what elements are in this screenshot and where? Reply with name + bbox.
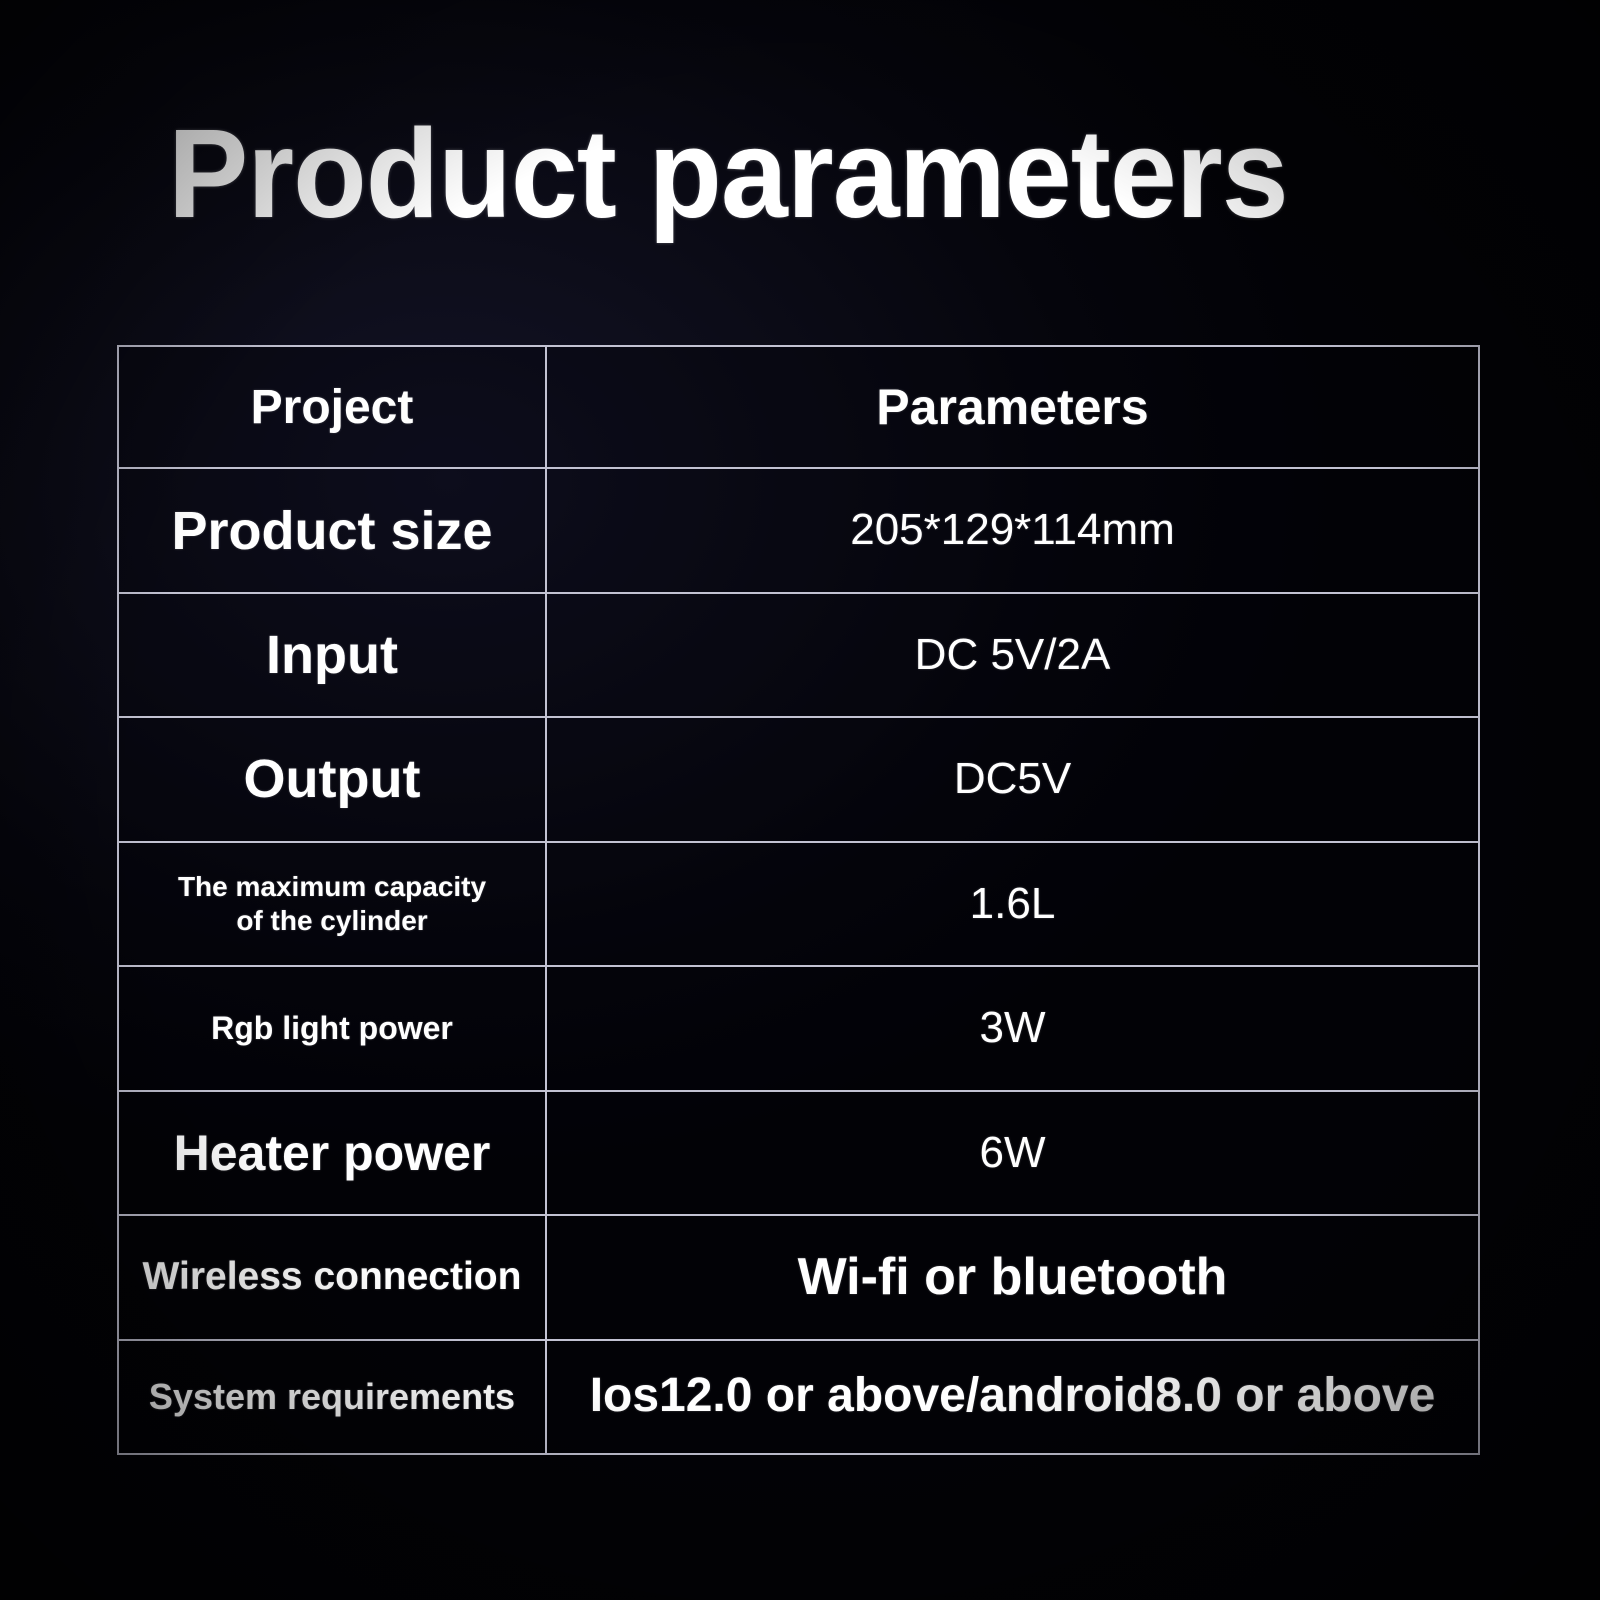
row-value-max-capacity: 1.6L <box>546 842 1479 966</box>
table-row: The maximum capacity of the cylinder 1.6… <box>118 842 1479 966</box>
row-value-rgb-light-power: 3W <box>546 966 1479 1090</box>
header-label-parameters: Parameters <box>547 378 1478 436</box>
label-text: The maximum capacity of the cylinder <box>153 870 511 938</box>
value-text: 205*129*114mm <box>547 506 1478 554</box>
header-cell-project: Project <box>118 346 546 468</box>
value-text: 3W <box>547 1004 1478 1052</box>
value-text: Wi-fi or bluetooth <box>547 1249 1478 1306</box>
row-label-rgb-light-power: Rgb light power <box>118 966 546 1090</box>
label-text: Input <box>119 626 545 684</box>
row-value-product-size: 205*129*114mm <box>546 468 1479 592</box>
label-text: Wireless connection <box>119 1256 545 1299</box>
table-row: Input DC 5V/2A <box>118 593 1479 717</box>
label-text: Rgb light power <box>119 1009 545 1048</box>
row-label-max-capacity: The maximum capacity of the cylinder <box>118 842 546 966</box>
table-row: Heater power 6W <box>118 1091 1479 1215</box>
value-text: DC 5V/2A <box>547 631 1478 679</box>
label-text: System requirements <box>119 1377 545 1417</box>
row-label-wireless-connection: Wireless connection <box>118 1215 546 1339</box>
value-text: Ios12.0 or above/android8.0 or above <box>547 1370 1478 1423</box>
table-row: Wireless connection Wi-fi or bluetooth <box>118 1215 1479 1339</box>
label-text: Output <box>119 750 545 808</box>
row-label-output: Output <box>118 717 546 841</box>
page-title: Product parameters <box>168 104 1429 244</box>
table-row: System requirements Ios12.0 or above/and… <box>118 1340 1479 1455</box>
table-row: Output DC5V <box>118 717 1479 841</box>
table-header-row: Project Parameters <box>118 346 1479 468</box>
header-cell-parameters: Parameters <box>546 346 1479 468</box>
row-value-heater-power: 6W <box>546 1091 1479 1215</box>
row-label-heater-power: Heater power <box>118 1091 546 1215</box>
row-value-wireless-connection: Wi-fi or bluetooth <box>546 1215 1479 1339</box>
value-text: 6W <box>547 1129 1478 1177</box>
table-row: Product size 205*129*114mm <box>118 468 1479 592</box>
specifications-table: Project Parameters Product size 205*129*… <box>117 345 1480 1455</box>
row-value-system-requirements: Ios12.0 or above/android8.0 or above <box>546 1340 1479 1455</box>
value-text: 1.6L <box>547 880 1478 928</box>
label-text: Heater power <box>119 1126 545 1180</box>
row-label-product-size: Product size <box>118 468 546 592</box>
row-value-input: DC 5V/2A <box>546 593 1479 717</box>
label-text: Product size <box>119 502 545 560</box>
row-label-system-requirements: System requirements <box>118 1340 546 1455</box>
table-row: Rgb light power 3W <box>118 966 1479 1090</box>
row-value-output: DC5V <box>546 717 1479 841</box>
row-label-input: Input <box>118 593 546 717</box>
value-text: DC5V <box>547 755 1478 803</box>
product-parameters-page: Product parameters Project Parameters Pr… <box>0 0 1600 1600</box>
header-label-project: Project <box>119 380 545 435</box>
